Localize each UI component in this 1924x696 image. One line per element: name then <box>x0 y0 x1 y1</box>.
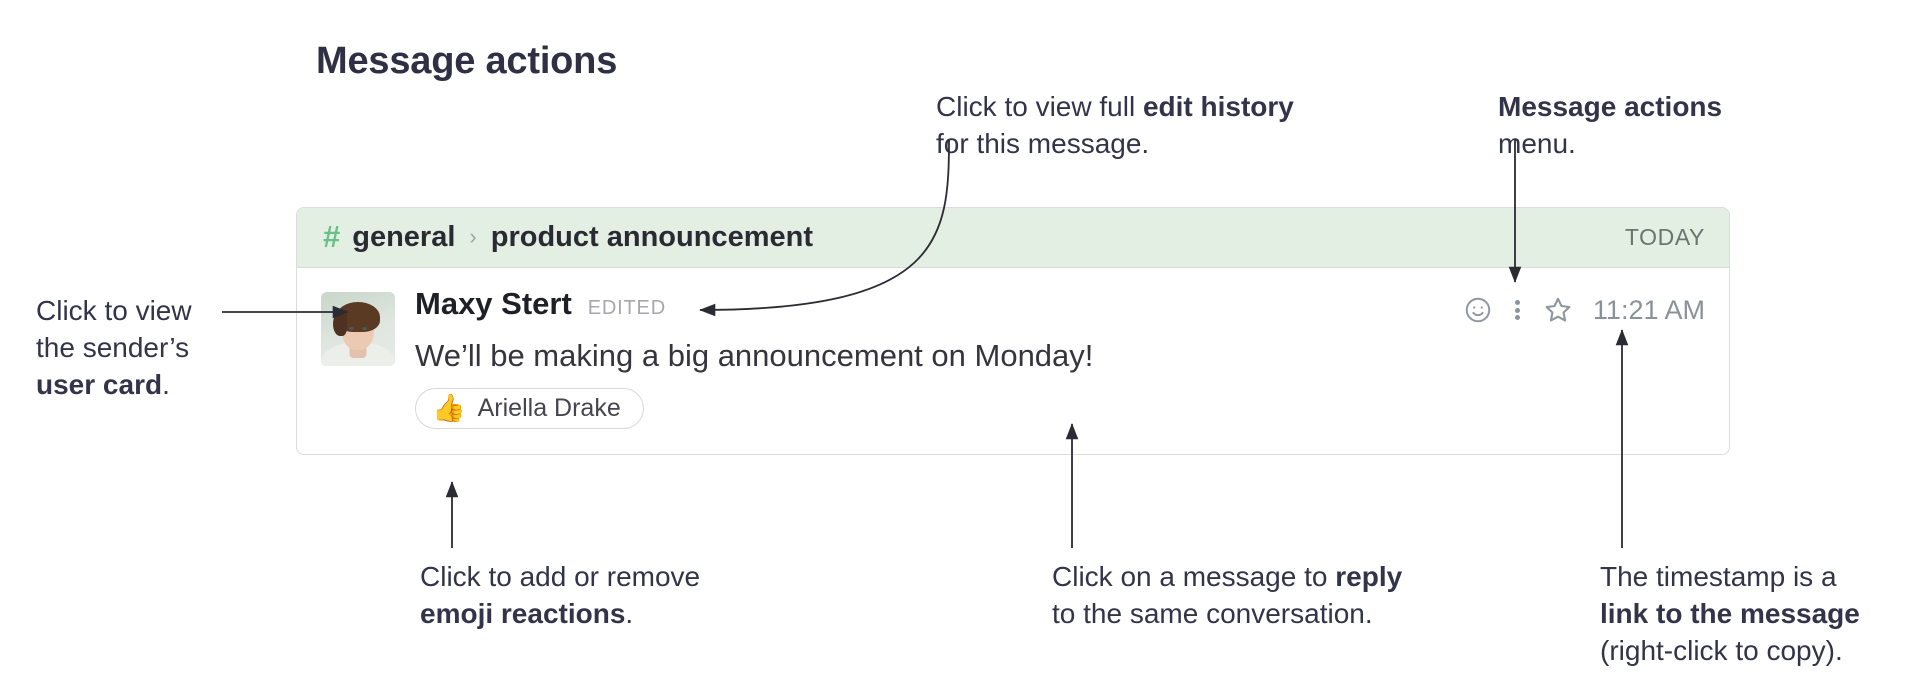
message-actions-menu-icon[interactable] <box>1501 290 1535 330</box>
star-icon[interactable] <box>1535 290 1581 330</box>
annotation-actions-menu: Message actions menu. <box>1498 88 1722 162</box>
annotation-line: emoji reactions. <box>420 595 700 632</box>
annotation-edit-history: Click to view full edit history for this… <box>936 88 1294 162</box>
annotation-line: Message actions <box>1498 88 1722 125</box>
reaction-list: 👍 Ariella Drake <box>415 388 1705 429</box>
stream-topic-bar[interactable]: # general › product announcement TODAY <box>297 208 1729 268</box>
thumbs-up-icon: 👍 <box>432 395 466 422</box>
page-title: Message actions <box>316 40 617 83</box>
annotation-line: Click to view <box>36 292 192 329</box>
chevron-right-icon: › <box>469 224 476 250</box>
annotation-text-bold: edit history <box>1143 91 1294 122</box>
topic-name-link[interactable]: product announcement <box>491 221 813 254</box>
annotation-emoji-reactions: Click to add or remove emoji reactions. <box>420 558 700 632</box>
annotation-text: . <box>625 598 633 629</box>
date-label: TODAY <box>1625 224 1705 251</box>
message-body-text[interactable]: We’ll be making a big announcement on Mo… <box>415 338 1705 374</box>
menu-dot <box>1515 300 1520 305</box>
annotation-line: (right-click to copy). <box>1600 632 1860 669</box>
reaction-user-label: Ariella Drake <box>478 394 621 423</box>
avatar-eye-left <box>349 327 354 330</box>
annotation-line: Click to add or remove <box>420 558 700 595</box>
annotation-timestamp-link: The timestamp is a link to the message (… <box>1600 558 1860 670</box>
annotation-text-bold: user card <box>36 369 162 400</box>
annotation-text: . <box>162 369 170 400</box>
message-card[interactable]: # general › product announcement TODAY <box>296 207 1730 455</box>
stream-name-link[interactable]: general <box>352 221 455 254</box>
message-timestamp-link[interactable]: 11:21 AM <box>1593 295 1705 326</box>
annotation-line: menu. <box>1498 125 1722 162</box>
annotation-text: Click on a message to <box>1052 561 1335 592</box>
menu-dot <box>1515 308 1520 313</box>
avatar-eye-right <box>362 327 367 330</box>
annotation-user-card: Click to view the sender’s user card. <box>36 292 192 404</box>
annotation-text-bold: Message actions <box>1498 91 1722 122</box>
hash-icon: # <box>323 221 340 252</box>
annotation-line: user card. <box>36 366 192 403</box>
sender-name[interactable]: Maxy Stert <box>415 286 572 322</box>
avatar-hair-side <box>333 312 347 336</box>
reaction-pill[interactable]: 👍 Ariella Drake <box>415 388 644 429</box>
annotation-reply: Click on a message to reply to the same … <box>1052 558 1402 632</box>
annotation-line: the sender’s <box>36 329 192 366</box>
annotation-line: link to the message <box>1600 595 1860 632</box>
edited-badge[interactable]: EDITED <box>588 297 666 320</box>
annotation-line: for this message. <box>936 125 1294 162</box>
annotation-line: to the same conversation. <box>1052 595 1402 632</box>
avatar[interactable] <box>321 292 395 366</box>
annotation-text-bold: link to the message <box>1600 598 1860 629</box>
tutorial-figure: Message actions # general › product anno… <box>0 0 1924 696</box>
annotation-line: Click on a message to reply <box>1052 558 1402 595</box>
annotation-line: Click to view full edit history <box>936 88 1294 125</box>
message-actions-group[interactable]: 11:21 AM <box>1455 290 1705 330</box>
menu-dot <box>1515 315 1520 320</box>
emoji-reaction-icon[interactable] <box>1455 290 1501 330</box>
message-row[interactable]: Maxy Stert EDITED We’ll be making a big … <box>297 268 1729 429</box>
annotation-text: Click to view full <box>936 91 1143 122</box>
annotation-line: The timestamp is a <box>1600 558 1860 595</box>
annotation-text-bold: reply <box>1335 561 1402 592</box>
annotation-text-bold: emoji reactions <box>420 598 625 629</box>
